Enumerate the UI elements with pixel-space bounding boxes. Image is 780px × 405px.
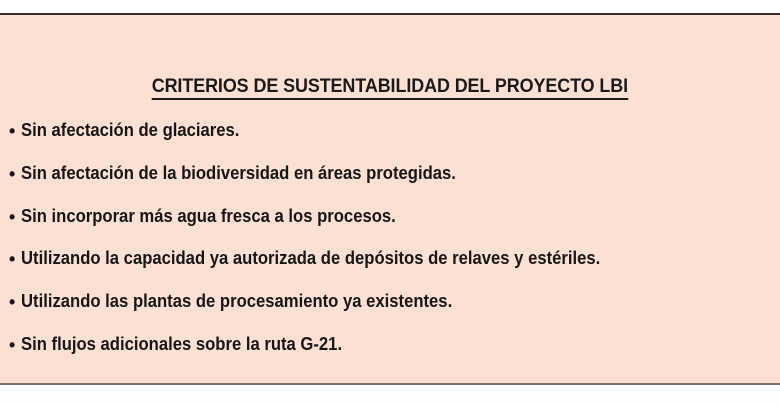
list-item: • Sin afectación de la biodiversidad en … xyxy=(9,159,771,202)
list-item-label: Utilizando las plantas de procesamiento … xyxy=(21,290,452,312)
criteria-list: • Sin afectación de glaciares. • Sin afe… xyxy=(9,116,771,373)
list-item-label: Sin flujos adicionales sobre la ruta G-2… xyxy=(21,333,342,355)
top-white-margin xyxy=(0,0,780,13)
bullet-icon: • xyxy=(9,248,21,270)
list-item-label: Sin afectación de glaciares. xyxy=(21,119,239,141)
content-panel: CRITERIOS DE SUSTENTABILIDAD DEL PROYECT… xyxy=(0,15,780,383)
list-item-label: Sin afectación de la biodiversidad en ár… xyxy=(21,162,456,184)
page-title-text: CRITERIOS DE SUSTENTABILIDAD DEL PROYECT… xyxy=(152,75,628,100)
slide-canvas: CRITERIOS DE SUSTENTABILIDAD DEL PROYECT… xyxy=(0,0,780,405)
list-item: • Sin incorporar más agua fresca a los p… xyxy=(9,202,771,245)
list-item: • Utilizando la capacidad ya autorizada … xyxy=(9,244,771,287)
bottom-white-margin xyxy=(0,385,780,405)
list-item: • Sin flujos adicionales sobre la ruta G… xyxy=(9,330,771,373)
bullet-icon: • xyxy=(9,163,21,185)
bullet-icon: • xyxy=(9,120,21,142)
page-title: CRITERIOS DE SUSTENTABILIDAD DEL PROYECT… xyxy=(0,75,780,100)
list-item: • Sin afectación de glaciares. xyxy=(9,116,771,159)
list-item-label: Utilizando la capacidad ya autorizada de… xyxy=(21,247,600,269)
list-item-label: Sin incorporar más agua fresca a los pro… xyxy=(21,205,396,227)
bullet-icon: • xyxy=(9,334,21,356)
bullet-icon: • xyxy=(9,206,21,228)
bullet-icon: • xyxy=(9,291,21,313)
list-item: • Utilizando las plantas de procesamient… xyxy=(9,287,771,330)
